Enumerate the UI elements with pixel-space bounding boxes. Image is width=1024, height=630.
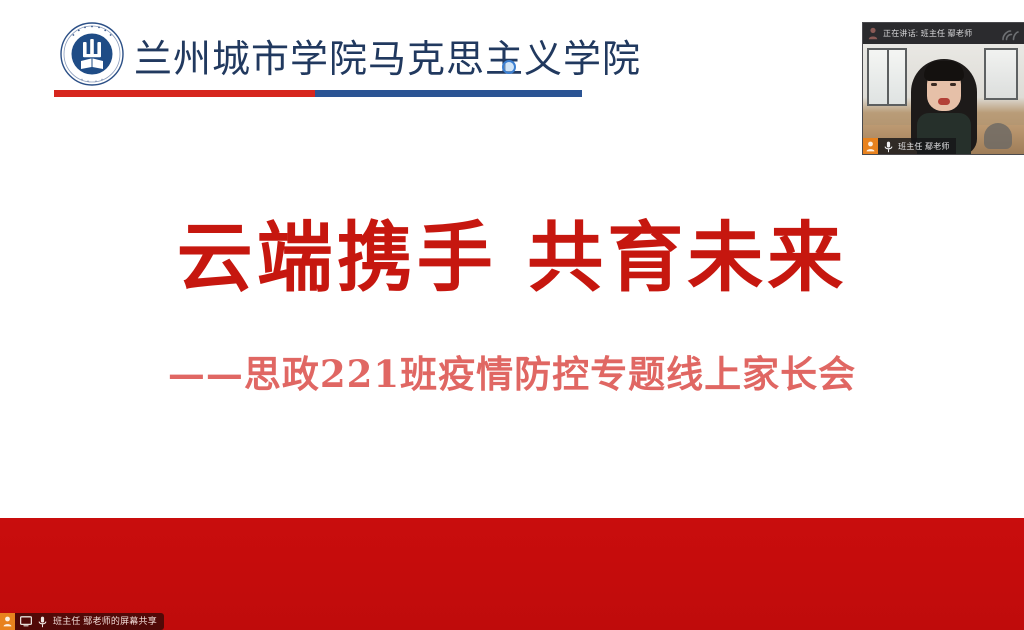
thumbnail-video-feed: 班主任 鄢老师: [863, 44, 1024, 155]
screen-share-view: 兰州城市学院马克思主义学院 云端携手 共育未来 ——思政221班疫情防控专题线上…: [0, 0, 1024, 630]
slide-title: 云端携手 共育未来: [0, 212, 1024, 304]
microphone-icon: [882, 141, 894, 153]
speaking-status-label: 正在讲话: 班主任 鄢老师: [883, 29, 996, 39]
signal-strength-icon: [1001, 28, 1019, 40]
header-divider-rule: [54, 90, 582, 97]
thumbnail-participant-name: 班主任 鄢老师: [898, 142, 950, 152]
screen-share-label: 班主任 鄢老师的屏幕共享: [53, 616, 157, 627]
speaker-avatar-icon: [868, 27, 878, 40]
institution-name: 兰州城市学院马克思主义学院: [134, 36, 641, 82]
participant-icon: [0, 613, 15, 630]
background-window-left: [867, 48, 907, 106]
participant-icon: [863, 138, 878, 155]
screen-share-icon: [19, 615, 32, 628]
divider-red-segment: [54, 90, 315, 97]
slide-subtitle: ——思政221班疫情防控专题线上家长会: [0, 350, 1024, 398]
video-thumbnail[interactable]: 正在讲话: 班主任 鄢老师: [862, 22, 1024, 155]
school-crest-icon: [58, 20, 126, 88]
thumbnail-bottom-bar: 班主任 鄢老师: [863, 138, 956, 155]
microphone-icon: [36, 615, 49, 628]
pointer-dot-icon: [502, 60, 516, 74]
background-chair: [984, 123, 1012, 149]
thumbnail-top-bar: 正在讲话: 班主任 鄢老师: [863, 23, 1024, 44]
screen-share-status-bar: 班主任 鄢老师的屏幕共享: [0, 613, 164, 630]
background-window-right: [984, 48, 1018, 100]
slide-header: 兰州城市学院马克思主义学院: [52, 16, 582, 102]
divider-blue-segment: [315, 90, 582, 97]
